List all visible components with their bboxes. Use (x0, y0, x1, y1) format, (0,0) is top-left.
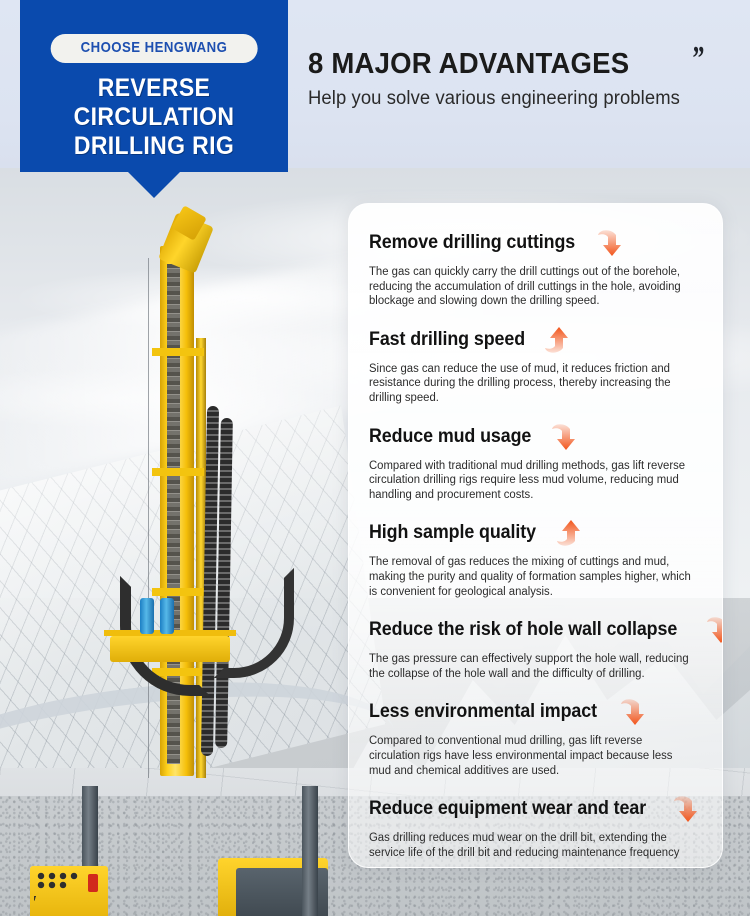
advantage-heading-row: High sample quality (369, 518, 702, 548)
blue-cylinder (160, 598, 174, 634)
advantage-title: Reduce equipment wear and tear (369, 798, 646, 820)
advantage-heading-row: Remove drilling cuttings (369, 228, 702, 258)
advantage-item: Reduce equipment wear and tearGas drilli… (369, 794, 702, 860)
advantage-item: Reduce mud usageCompared with traditiona… (369, 422, 702, 503)
advantage-heading-row: Reduce equipment wear and tear (369, 794, 702, 824)
curved-arrow-down-icon (672, 794, 702, 824)
advantage-description: Gas drilling reduces mud wear on the dri… (369, 831, 694, 860)
page-subheadline: Help you solve various engineering probl… (308, 88, 680, 110)
advantage-title: Remove drilling cuttings (369, 232, 575, 254)
curved-arrow-down-icon (619, 697, 649, 727)
advantage-description: Since gas can reduce the use of mud, it … (369, 362, 694, 406)
advantage-title: Fast drilling speed (369, 329, 525, 351)
advantages-list: Remove drilling cuttingsThe gas can quic… (369, 228, 702, 860)
control-knobs (36, 871, 84, 891)
choose-brand-badge-label: CHOOSE HENGWANG (81, 39, 228, 56)
advantage-item: Less environmental impactCompared to con… (369, 697, 702, 778)
advantage-heading-row: Fast drilling speed (369, 325, 702, 355)
advantage-item: Reduce the risk of hole wall collapseThe… (369, 615, 702, 681)
advantage-heading-row: Reduce the risk of hole wall collapse (369, 615, 702, 645)
curved-arrow-up-icon (543, 325, 573, 355)
advantage-heading-row: Reduce mud usage (369, 422, 702, 452)
advantage-title: Reduce mud usage (369, 426, 531, 448)
brand-callout-card: CHOOSE HENGWANG REVERSE CIRCULATION DRIL… (20, 0, 288, 172)
advantage-title: Reduce the risk of hole wall collapse (369, 619, 677, 641)
choose-brand-badge: CHOOSE HENGWANG (51, 34, 258, 63)
outrigger-leg (302, 786, 318, 916)
product-title: REVERSE CIRCULATION DRILLING RIG (20, 74, 288, 161)
mast-brace (152, 348, 204, 356)
curved-arrow-down-icon (596, 228, 626, 258)
advantage-item: Fast drilling speedSince gas can reduce … (369, 325, 702, 406)
rig-deck (110, 636, 230, 662)
advantages-panel: Remove drilling cuttingsThe gas can quic… (348, 203, 723, 868)
advantage-description: The gas pressure can effectively support… (369, 652, 694, 681)
curved-arrow-up-icon (555, 518, 585, 548)
advantage-title: Less environmental impact (369, 701, 597, 723)
page-headline: 8 MAJOR ADVANTAGES (308, 48, 629, 81)
advantage-item: Remove drilling cuttingsThe gas can quic… (369, 228, 702, 309)
quote-mark-icon: ” (693, 40, 705, 78)
advantage-item: High sample qualityThe removal of gas re… (369, 518, 702, 599)
advantage-title: High sample quality (369, 522, 536, 544)
curved-arrow-down-icon (550, 422, 580, 452)
promo-page: CHOOSE HENGWANG REVERSE CIRCULATION DRIL… (0, 0, 750, 916)
curved-arrow-down-icon (705, 615, 723, 645)
advantage-description: The gas can quickly carry the drill cutt… (369, 265, 694, 309)
advantage-heading-row: Less environmental impact (369, 697, 702, 727)
product-title-line-1: REVERSE CIRCULATION (31, 74, 278, 132)
emergency-stop-button (88, 874, 98, 892)
control-levers (34, 896, 94, 916)
drilling-rig-machine (0, 168, 375, 916)
mast-brace (152, 468, 204, 476)
advantage-description: The removal of gas reduces the mixing of… (369, 555, 694, 599)
advantage-description: Compared to conventional mud drilling, g… (369, 734, 694, 778)
blue-cylinder (140, 598, 154, 634)
advantage-description: Compared with traditional mud drilling m… (369, 459, 694, 503)
mast-wire (148, 258, 149, 778)
product-title-line-2: DRILLING RIG (31, 132, 278, 161)
